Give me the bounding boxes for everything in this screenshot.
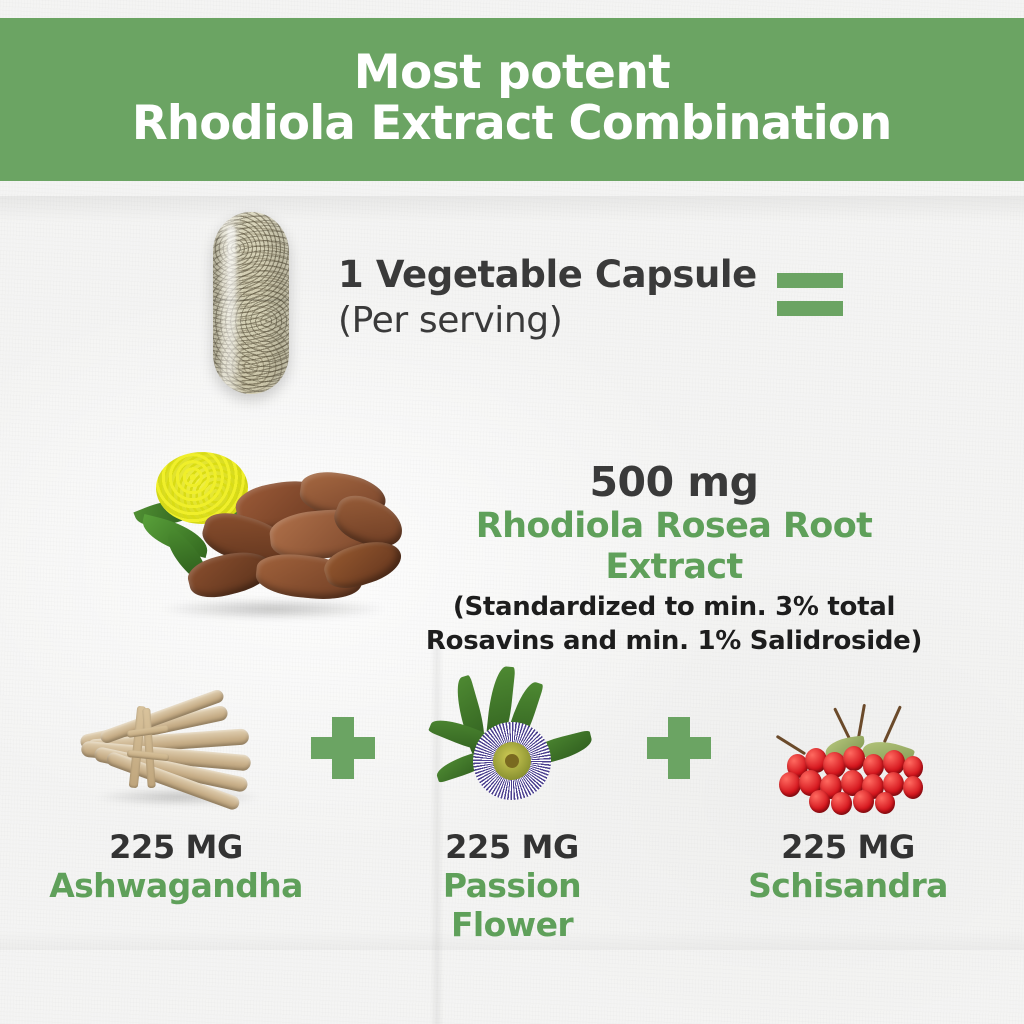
passion-flower-stigma [505,754,519,768]
capsule-subheading: (Per serving) [338,298,757,343]
schisandra-berry [809,790,830,813]
banner-title-line2: Rhodiola Extract Combination [132,98,892,151]
ingredient-dose: 225 MG [713,830,983,866]
equals-bar-bottom [777,301,843,316]
plus-bar-vertical [332,717,354,779]
ingredient-column-ashwagandha: 225 MG Ashwagandha [41,660,311,905]
rhodiola-dose: 500 mg [404,460,944,506]
schisandra-berry [831,792,852,815]
berry-stem [776,735,806,756]
rhodiola-name: Rhodiola Rosea Root Extract [404,506,944,589]
plus-icon [647,660,713,830]
infographic-page: Most potent Rhodiola Extract Combination… [0,0,1024,1024]
ingredient-name: Schisandra [713,866,983,906]
plus-icon [311,660,377,830]
schisandra-berry [779,772,801,797]
schisandra-berry [875,792,895,814]
rhodiola-extract-row: 500 mg Rhodiola Rosea Root Extract (Stan… [0,430,1024,630]
capsule-heading: 1 Vegetable Capsule [338,252,757,298]
ingredients-row: 225 MG Ashwagandha 225 MG Passion Flower [0,660,1024,930]
ingredient-column-schisandra: 225 MG Schisandra [713,660,983,905]
capsule-text-block: 1 Vegetable Capsule (Per serving) [338,252,757,343]
ingredient-name: Ashwagandha [41,866,311,906]
ingredient-name: Passion Flower [377,866,647,945]
schisandra-berry [843,746,865,771]
rhodiola-note-line1: (Standardized to min. 3% total [404,591,944,623]
equals-icon [777,273,843,316]
schisandra-berry [903,776,923,799]
ingredient-column-passion-flower: 225 MG Passion Flower [377,660,647,945]
capsule-serving-row: 1 Vegetable Capsule (Per serving) [0,200,1024,405]
header-banner: Most potent Rhodiola Extract Combination [0,18,1024,181]
berry-stem [883,705,902,743]
ingredient-dose: 225 MG [377,830,647,866]
banner-title-line1: Most potent [354,48,671,98]
equals-bar-top [777,273,843,288]
rhodiola-note-line2: Rosavins and min. 1% Salidroside) [404,625,944,657]
plus-bar-vertical [668,717,690,779]
rhodiola-text-block: 500 mg Rhodiola Rosea Root Extract (Stan… [404,460,944,657]
rhodiola-root-image [128,448,408,633]
schisandra-berry [853,790,874,813]
ashwagandha-root-image [41,660,311,830]
vegetable-capsule-image [213,212,289,394]
ingredient-dose: 225 MG [41,830,311,866]
passion-flower-image [377,660,647,830]
image-shadow [158,598,388,620]
schisandra-berries-image [713,660,983,830]
